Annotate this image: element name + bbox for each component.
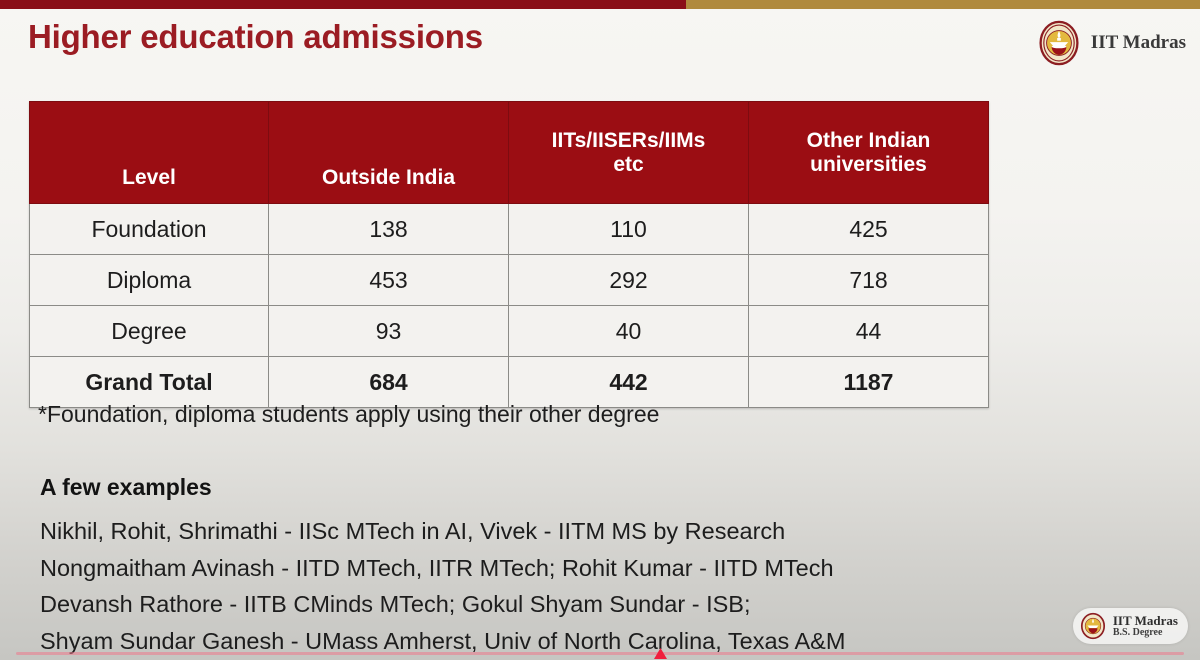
cell-iits: 292 [509,255,749,306]
watermark-line1: IIT Madras [1113,614,1178,628]
cell-outside-india: 684 [269,357,509,408]
cell-outside-india: 138 [269,204,509,255]
column-header-iits-line2: etc [509,153,748,177]
column-header-iits-line1: IITs/IISERs/IIMs [509,129,748,153]
column-header-other-line1: Other Indian [749,129,988,153]
presentation-slide: Higher education admissions IIT Madras [0,0,1200,660]
example-line: Nongmaitham Avinash - IITD MTech, IITR M… [40,550,1040,587]
column-header-outside-india: Outside India [269,102,509,204]
table-footnote: *Foundation, diploma students apply usin… [38,401,659,428]
table-row: Foundation 138 110 425 [30,204,989,255]
cell-iits: 110 [509,204,749,255]
top-accent-bar [0,0,1200,9]
brand-name: IIT Madras [1091,32,1186,54]
cell-level: Grand Total [30,357,269,408]
cell-iits: 442 [509,357,749,408]
cell-other: 425 [749,204,989,255]
column-header-other-line2: universities [749,153,988,177]
iit-madras-seal-icon [1036,20,1082,66]
cell-iits: 40 [509,306,749,357]
column-header-level-line1: Level [122,166,176,189]
table-header-row: Level Outside India IITs/IISERs/IIMs etc… [30,102,989,204]
example-line: Nikhil, Rohit, Shrimathi - IISc MTech in… [40,513,1040,550]
page-title: Higher education admissions [28,18,483,56]
table-header: Level Outside India IITs/IISERs/IIMs etc… [30,102,989,204]
table-row: Degree 93 40 44 [30,306,989,357]
cell-other: 718 [749,255,989,306]
watermark-line2: B.S. Degree [1113,628,1178,639]
examples-heading: A few examples [40,474,1040,501]
cell-level: Degree [30,306,269,357]
table-row: Diploma 453 292 718 [30,255,989,306]
watermark-badge: IIT Madras B.S. Degree [1073,608,1188,644]
video-progress-bar[interactable] [16,652,1184,655]
brand-lockup: IIT Madras [1036,20,1186,66]
examples-section: A few examples Nikhil, Rohit, Shrimathi … [40,474,1040,659]
top-accent-bar-gold [686,0,1200,9]
top-accent-bar-red [0,0,686,9]
cell-level: Foundation [30,204,269,255]
cell-other: 44 [749,306,989,357]
iit-madras-seal-icon [1079,612,1107,640]
column-header-level: Level [30,102,269,204]
cell-level: Diploma [30,255,269,306]
cell-outside-india: 93 [269,306,509,357]
table-row-grand-total: Grand Total 684 442 1187 [30,357,989,408]
cell-outside-india: 453 [269,255,509,306]
admissions-table: Level Outside India IITs/IISERs/IIMs etc… [29,101,989,408]
cell-other: 1187 [749,357,989,408]
column-header-other-universities: Other Indian universities [749,102,989,204]
table-body: Foundation 138 110 425 Diploma 453 292 7… [30,204,989,408]
column-header-iits: IITs/IISERs/IIMs etc [509,102,749,204]
example-line: Devansh Rathore - IITB CMinds MTech; Gok… [40,586,1040,623]
watermark-text: IIT Madras B.S. Degree [1113,614,1178,638]
column-header-outside-india-line1: Outside India [322,166,455,189]
